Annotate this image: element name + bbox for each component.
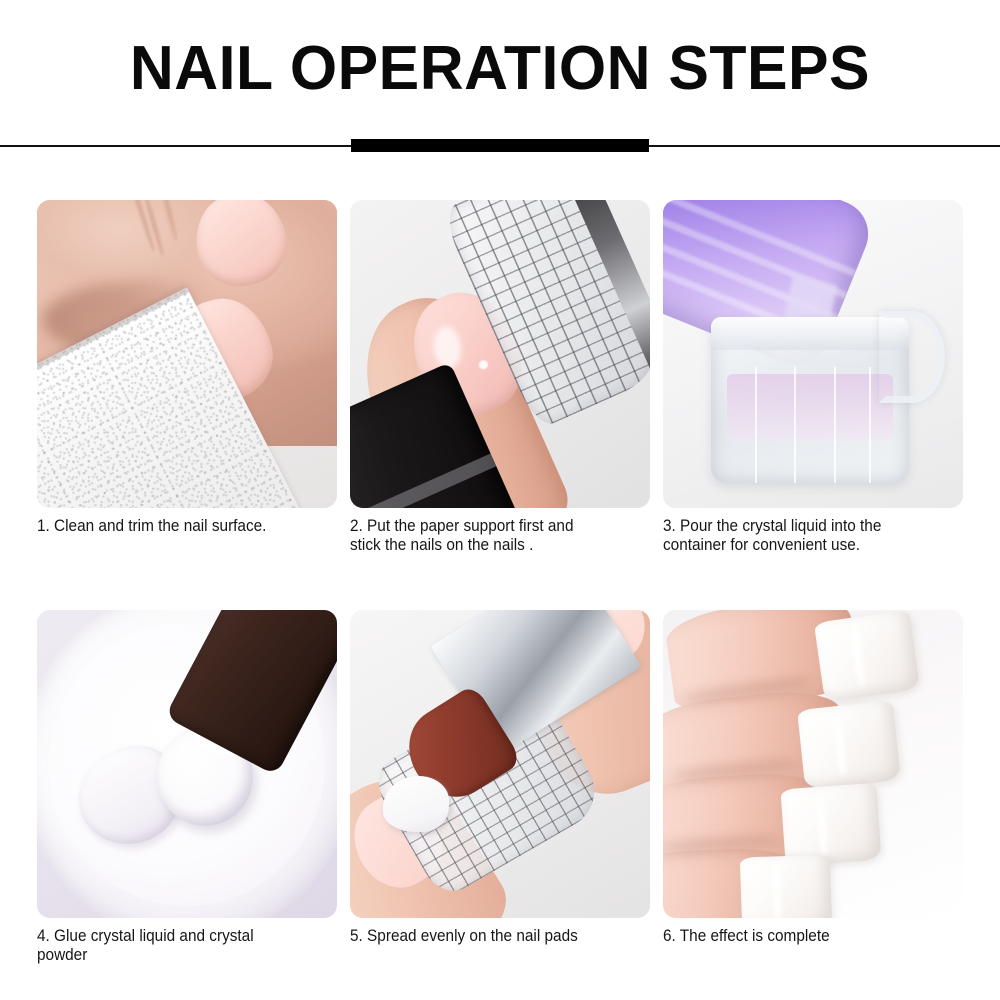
dish-facet — [834, 367, 836, 483]
title-divider — [0, 138, 1000, 154]
nail-shine — [772, 862, 782, 918]
step-card-2: Nail System 2. Put the paper support fir… — [350, 200, 658, 554]
step-card-5: 5. Spread evenly on the nail pads — [350, 610, 658, 946]
white-acrylic-nail — [814, 610, 920, 703]
step-caption-6: 6. The effect is complete — [663, 927, 942, 946]
product-brand-label: Nail System — [350, 457, 362, 508]
steps-grid: 1. Clean and trim the nail surface. — [0, 188, 1000, 1000]
scene-pour-liquid — [663, 200, 963, 508]
step-image-5 — [350, 610, 650, 918]
white-acrylic-nail — [740, 855, 833, 918]
page-title: NAIL OPERATION STEPS — [10, 34, 990, 104]
step-image-6 — [663, 610, 963, 918]
nail-shine — [849, 624, 866, 689]
bottle-ridge — [663, 200, 856, 276]
nail-shine — [815, 792, 828, 854]
dish-facet — [755, 367, 757, 483]
step-caption-5: 5. Spread evenly on the nail pads — [350, 927, 629, 946]
step-card-3: 3. Pour the crystal liquid into the cont… — [663, 200, 971, 554]
scene-nail-form: Nail System — [350, 200, 650, 508]
infographic-page: NAIL OPERATION STEPS — [0, 0, 1000, 1000]
bottle-band — [350, 453, 496, 508]
step-card-6: 6. The effect is complete — [663, 610, 971, 946]
step-caption-4: 4. Glue crystal liquid and crystal powde… — [37, 927, 316, 964]
dish-facet — [794, 367, 796, 483]
step-image-2: Nail System — [350, 200, 650, 508]
step-caption-2: 2. Put the paper support first and stick… — [350, 517, 629, 554]
scene-nail-filing — [37, 200, 337, 508]
dish-liquid — [727, 374, 893, 441]
nail-shine — [832, 713, 847, 778]
dish-facet — [869, 367, 871, 483]
step-card-1: 1. Clean and trim the nail surface. — [37, 200, 345, 536]
step-card-4: 4. Glue crystal liquid and crystal powde… — [37, 610, 345, 964]
white-acrylic-nail — [797, 701, 901, 791]
step-image-4 — [37, 610, 337, 918]
step-caption-3: 3. Pour the crystal liquid into the cont… — [663, 517, 942, 554]
divider-accent-bar — [351, 139, 649, 152]
header: NAIL OPERATION STEPS — [0, 0, 1000, 170]
step-caption-1: 1. Clean and trim the nail surface. — [37, 517, 316, 536]
dish-handle — [879, 311, 945, 403]
scene-finished-nails — [663, 610, 963, 918]
step-image-3 — [663, 200, 963, 508]
acrylic-blob — [383, 776, 449, 831]
scene-spread-acrylic — [350, 610, 650, 918]
white-acrylic-nail — [780, 782, 881, 866]
step-image-1 — [37, 200, 337, 508]
nail-gloss — [432, 326, 463, 370]
nail-highlight-dot — [478, 359, 490, 371]
scene-powder-dip — [37, 610, 337, 918]
